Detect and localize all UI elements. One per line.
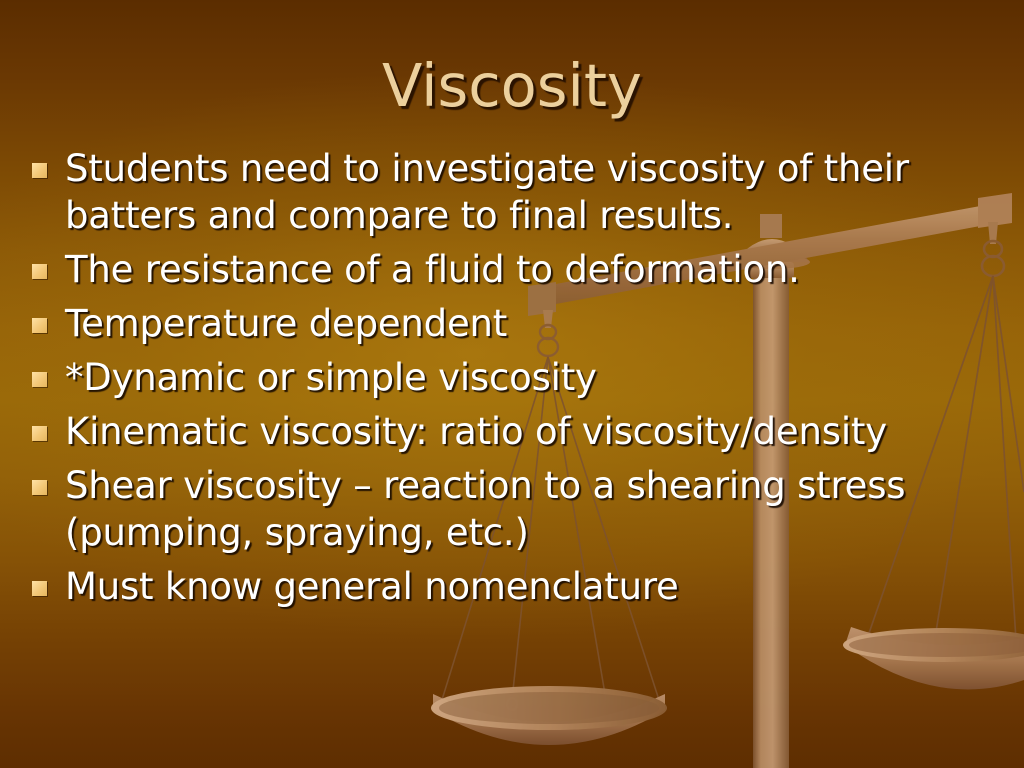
square-bullet-icon [32,581,47,596]
square-bullet-icon [32,372,47,387]
square-bullet-icon [32,426,47,441]
slide-bullet-list: Students need to investigate viscosity o… [0,145,1024,617]
list-item: Temperature dependent [0,300,1024,347]
list-item: Must know general nomenclature [0,563,1024,610]
list-item: The resistance of a fluid to deformation… [0,246,1024,293]
scale-pan-right [843,627,1024,689]
list-item-label: Students need to investigate viscosity o… [65,145,1024,239]
list-item-label: The resistance of a fluid to deformation… [65,246,1024,293]
list-item-label: Must know general nomenclature [65,563,1024,610]
list-item: Students need to investigate viscosity o… [0,145,1024,239]
list-item-label: *Dynamic or simple viscosity [65,354,1024,401]
square-bullet-icon [32,318,47,333]
list-item: Shear viscosity – reaction to a shearing… [0,462,1024,556]
presentation-slide: Viscosity Students need to investigate v… [0,0,1024,768]
square-bullet-icon [32,480,47,495]
list-item: Kinematic viscosity: ratio of viscosity/… [0,408,1024,455]
slide-title: Viscosity [0,55,1024,117]
list-item: *Dynamic or simple viscosity [0,354,1024,401]
scale-left-pan-hooks [435,698,517,712]
scale-pan-left [431,686,667,745]
scale-right-pan-hooks [862,633,942,648]
square-bullet-icon [32,264,47,279]
square-bullet-icon [32,163,47,178]
list-item-label: Temperature dependent [65,300,1024,347]
list-item-label: Kinematic viscosity: ratio of viscosity/… [65,408,1024,455]
list-item-label: Shear viscosity – reaction to a shearing… [65,462,1024,556]
